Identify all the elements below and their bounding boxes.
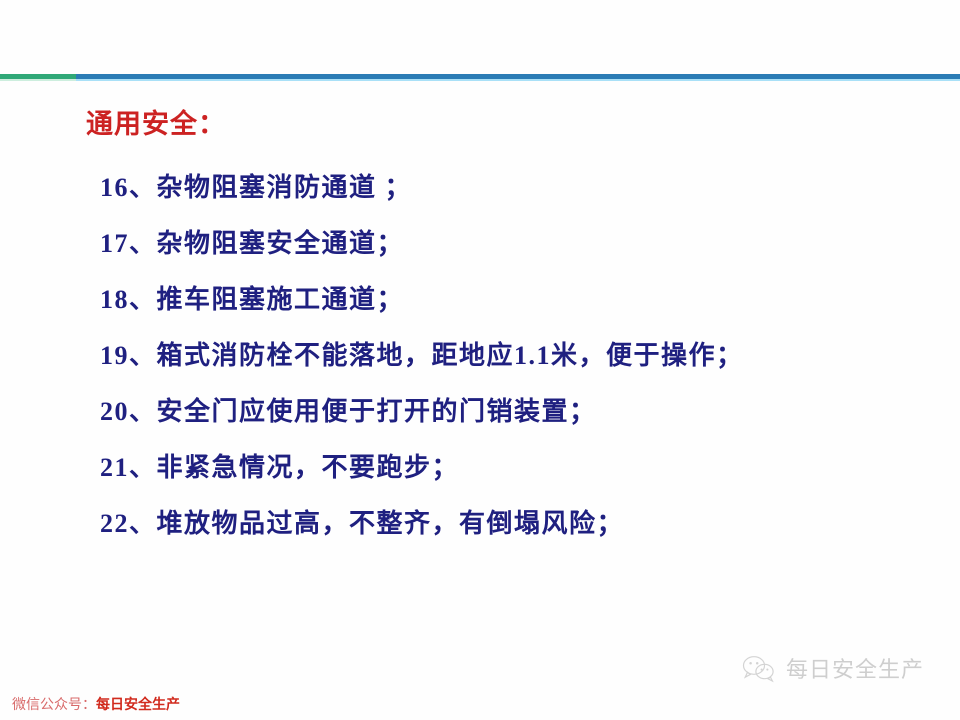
header-divider-rule: [0, 73, 960, 80]
list-item: 21、非紧急情况，不要跑步；: [100, 440, 926, 496]
divider-green-glow: [0, 79, 80, 81]
slide-content: 通用安全： 16、杂物阻塞消防通道 ； 17、杂物阻塞安全通道； 18、推车阻塞…: [86, 104, 926, 552]
watermark: 每日安全生产: [742, 652, 924, 684]
list-item: 18、推车阻塞施工通道；: [100, 272, 926, 328]
watermark-text: 每日安全生产: [786, 652, 924, 684]
safety-item-list: 16、杂物阻塞消防通道 ； 17、杂物阻塞安全通道； 18、推车阻塞施工通道； …: [86, 160, 926, 552]
credit-label: 微信公众号：: [12, 696, 96, 712]
slide-canvas: 通用安全： 16、杂物阻塞消防通道 ； 17、杂物阻塞安全通道； 18、推车阻塞…: [0, 0, 960, 720]
list-item: 19、箱式消防栓不能落地，距地应1.1米，便于操作；: [100, 328, 926, 384]
list-item: 20、安全门应使用便于打开的门销装置；: [100, 384, 926, 440]
list-item: 17、杂物阻塞安全通道；: [100, 216, 926, 272]
section-title: 通用安全：: [86, 104, 926, 144]
wechat-logo-icon: [742, 653, 776, 683]
credit-account-name: 每日安全生产: [96, 696, 180, 712]
list-item: 22、堆放物品过高，不整齐，有倒塌风险；: [100, 496, 926, 552]
list-item: 16、杂物阻塞消防通道 ；: [100, 160, 926, 216]
divider-blue-glow: [76, 79, 960, 81]
credit-line: 微信公众号：每日安全生产: [12, 694, 180, 714]
